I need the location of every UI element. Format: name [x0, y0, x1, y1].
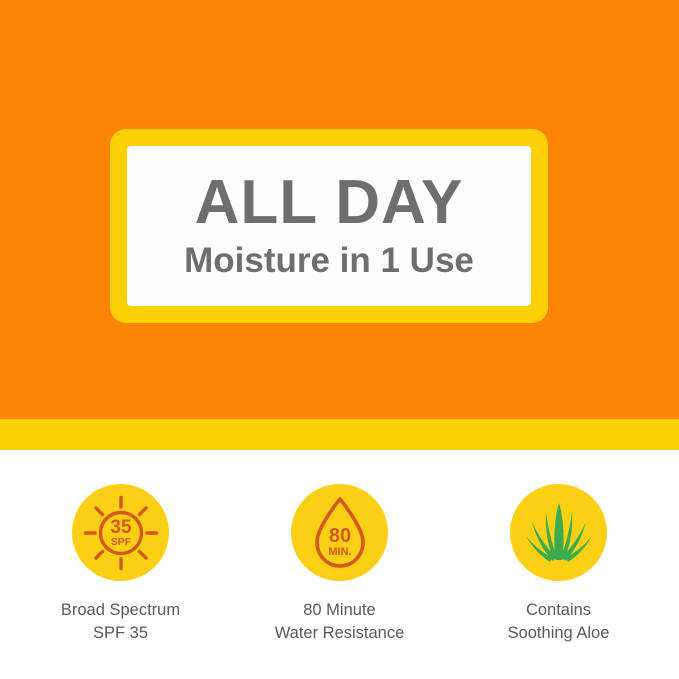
spf-unit-text: SPF — [110, 536, 131, 548]
feature-item-water-resistance: 80 MIN. 80 Minute Water Resistance — [230, 484, 449, 646]
feature-row: 35 SPF Broad Spectrum SPF 35 80 MIN. 80 … — [0, 484, 679, 646]
water-droplet-icon: 80 MIN. — [308, 494, 372, 572]
headline-primary-text: ALL DAY — [195, 171, 464, 234]
feature-caption-spf: Broad Spectrum SPF 35 — [61, 599, 180, 646]
feature-item-aloe: Contains Soothing Aloe — [449, 484, 668, 646]
feature-badge-aloe — [510, 484, 607, 581]
spf-value-text: 35 — [110, 517, 132, 538]
feature-caption-aloe: Contains Soothing Aloe — [508, 599, 610, 646]
feature-badge-spf: 35 SPF — [72, 484, 169, 581]
headline-inner-panel: ALL DAY Moisture in 1 Use — [127, 146, 531, 306]
headline-badge: ALL DAY Moisture in 1 Use — [110, 129, 548, 323]
sun-spf-icon: 35 SPF — [82, 494, 160, 572]
product-feature-panel: ALL DAY Moisture in 1 Use — [0, 0, 679, 679]
aloe-plant-icon — [524, 500, 594, 566]
feature-badge-water-resistance: 80 MIN. — [291, 484, 388, 581]
water-unit-text: MIN. — [328, 546, 351, 558]
feature-item-spf: 35 SPF Broad Spectrum SPF 35 — [11, 484, 230, 646]
water-value-text: 80 — [328, 525, 350, 547]
yellow-divider-stripe — [0, 419, 679, 450]
feature-caption-water-resistance: 80 Minute Water Resistance — [275, 599, 405, 646]
headline-secondary-text: Moisture in 1 Use — [184, 242, 474, 281]
